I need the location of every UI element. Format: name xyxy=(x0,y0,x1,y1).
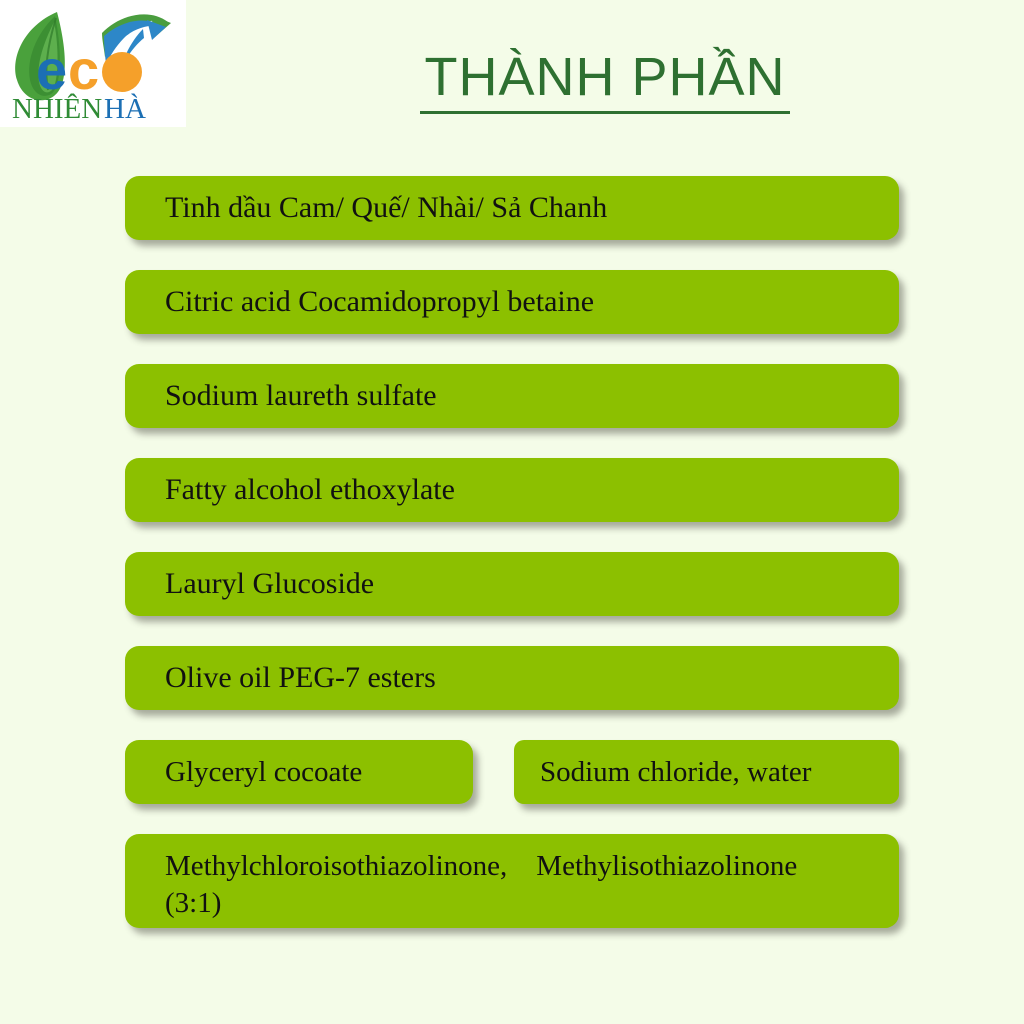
ingredient-row: Lauryl Glucoside xyxy=(125,552,899,616)
page-title: THÀNH PHẦN xyxy=(420,46,789,114)
brand-logo: e c NHIÊN HÀ xyxy=(0,0,186,127)
page-title-container: THÀNH PHẦN xyxy=(186,46,1024,114)
ingredient-label: Sodium laureth sulfate xyxy=(165,377,437,415)
ingredient-pill: Methylchloroisothiazolinone, Methylisoth… xyxy=(125,834,899,928)
svg-text:e: e xyxy=(36,38,67,101)
ingredient-label: Lauryl Glucoside xyxy=(165,565,374,603)
ingredient-label: Glyceryl cocoate xyxy=(165,753,362,791)
ingredient-pill: Citric acid Cocamidopropyl betaine xyxy=(125,270,899,334)
ingredient-row: Fatty alcohol ethoxylate xyxy=(125,458,899,522)
ingredient-pill: Fatty alcohol ethoxylate xyxy=(125,458,899,522)
logo-wordmark-nhien-ha: NHIÊN HÀ xyxy=(12,92,146,125)
ingredient-row: Tinh dầu Cam/ Quế/ Nhài/ Sả Chanh xyxy=(125,176,899,240)
svg-text:NHIÊN: NHIÊN xyxy=(12,92,102,125)
svg-text:HÀ: HÀ xyxy=(104,92,146,125)
ingredient-pill: Glyceryl cocoate xyxy=(125,740,473,804)
ingredient-pill: Sodium chloride, water xyxy=(514,740,899,804)
ingredient-row: Sodium laureth sulfate xyxy=(125,364,899,428)
ingredient-row: Methylchloroisothiazolinone, Methylisoth… xyxy=(125,834,899,928)
ingredient-label: Olive oil PEG-7 esters xyxy=(165,659,436,697)
ingredient-pill: Sodium laureth sulfate xyxy=(125,364,899,428)
ingredient-label: Methylchloroisothiazolinone, Methylisoth… xyxy=(165,848,797,922)
ingredient-label: Tinh dầu Cam/ Quế/ Nhài/ Sả Chanh xyxy=(165,189,607,227)
ingredient-pill: Lauryl Glucoside xyxy=(125,552,899,616)
eco-nhien-ha-logo-graphic: e c NHIÊN HÀ xyxy=(0,0,186,127)
svg-text:c: c xyxy=(68,38,99,101)
ingredient-list: Tinh dầu Cam/ Quế/ Nhài/ Sả Chanh Citric… xyxy=(125,176,899,928)
ingredient-pill: Tinh dầu Cam/ Quế/ Nhài/ Sả Chanh xyxy=(125,176,899,240)
ingredient-row: Citric acid Cocamidopropyl betaine xyxy=(125,270,899,334)
ingredient-label: Sodium chloride, water xyxy=(540,753,811,791)
ingredient-label: Citric acid Cocamidopropyl betaine xyxy=(165,283,594,321)
ingredient-row: Olive oil PEG-7 esters xyxy=(125,646,899,710)
ingredient-row-split: Glyceryl cocoate Sodium chloride, water xyxy=(125,740,899,804)
ingredient-label: Fatty alcohol ethoxylate xyxy=(165,471,455,509)
ingredient-pill: Olive oil PEG-7 esters xyxy=(125,646,899,710)
